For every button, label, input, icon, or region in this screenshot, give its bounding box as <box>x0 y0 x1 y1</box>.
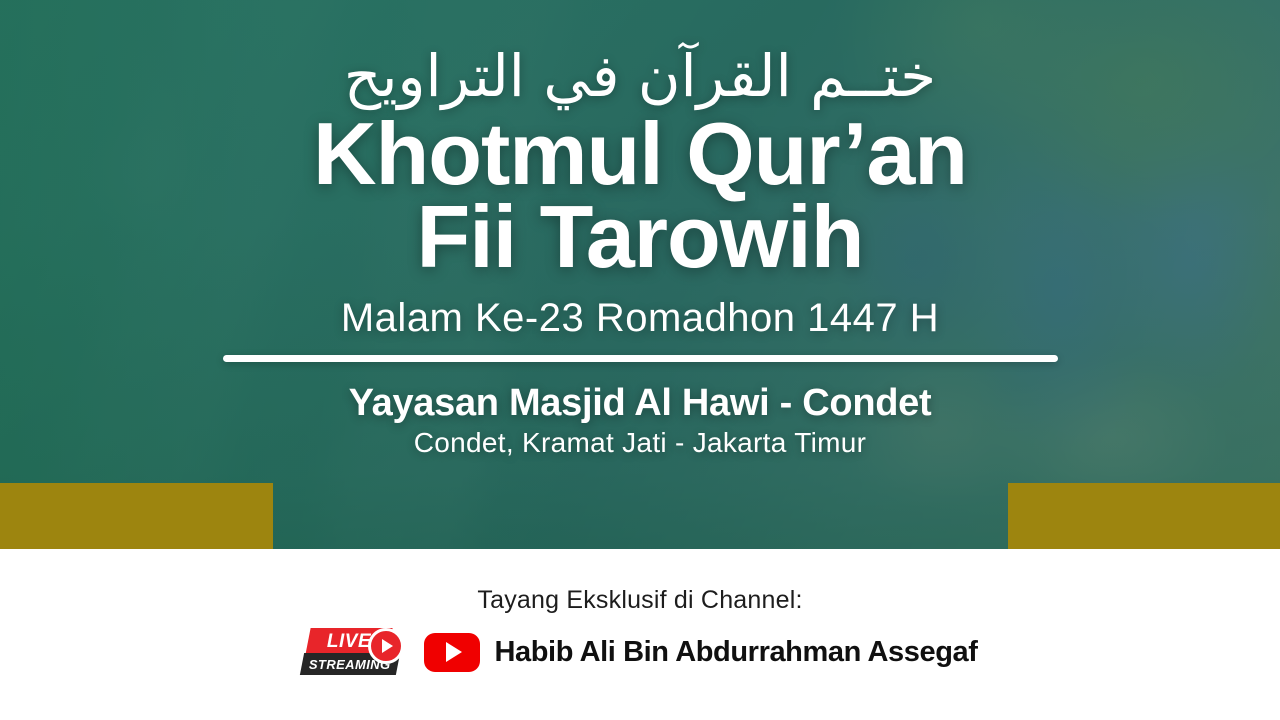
organization-location: Condet, Kramat Jati - Jakarta Timur <box>414 427 866 459</box>
channel-name[interactable]: Habib Ali Bin Abdurrahman Assegaf <box>494 636 977 669</box>
live-streaming-badge: LIVE STREAMING <box>302 628 410 676</box>
youtube-play-triangle-icon <box>446 642 462 662</box>
play-triangle-icon <box>382 639 393 653</box>
livestream-title-card: ختــم القرآن في التراويح Khotmul Qur’an … <box>0 0 1280 720</box>
footer-panel: Tayang Eksklusif di Channel: LIVE STREAM… <box>0 549 1280 720</box>
hero-panel: ختــم القرآن في التراويح Khotmul Qur’an … <box>0 0 1280 549</box>
live-label: LIVE <box>327 631 371 653</box>
footer-label: Tayang Eksklusif di Channel: <box>477 586 802 615</box>
channel-row: LIVE STREAMING Habib Ali Bin Abdurrahman… <box>302 628 977 676</box>
event-subtitle: Malam Ke-23 Romadhon 1447 H <box>341 296 939 341</box>
organization-name: Yayasan Masjid Al Hawi - Condet <box>349 382 932 425</box>
arabic-title: ختــم القرآن في التراويح <box>344 46 936 107</box>
main-title-line-2: Fii Tarowih <box>313 196 967 279</box>
main-title-line-1: Khotmul Qur’an <box>313 113 967 196</box>
hero-text-block: ختــم القرآن في التراويح Khotmul Qur’an … <box>0 0 1280 549</box>
youtube-icon[interactable] <box>424 633 480 672</box>
horizontal-divider <box>223 355 1058 362</box>
main-title: Khotmul Qur’an Fii Tarowih <box>313 113 967 278</box>
